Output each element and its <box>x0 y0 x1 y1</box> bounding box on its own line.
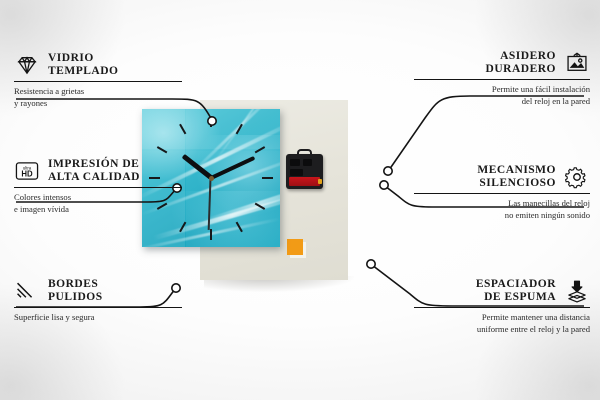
feature-vidrio-templado: VIDRIO TEMPLADO Resistencia a grietas y … <box>14 52 182 109</box>
svg-text:HD: HD <box>21 170 33 179</box>
feature-header: BORDES PULIDOS <box>14 278 182 304</box>
feature-description: Superficie lisa y segura <box>14 312 182 324</box>
feature-title: ASIDERO DURADERO <box>486 50 556 76</box>
feature-description: Permite una fácil instalación del reloj … <box>414 84 590 107</box>
picture-hanger-icon <box>564 51 590 75</box>
feature-espaciador-de-espuma: ESPACIADOR DE ESPUMA Permite mantener un… <box>414 278 590 335</box>
feature-title: BORDES PULIDOS <box>48 278 103 304</box>
feature-description: Permite mantener una distancia uniforme … <box>414 312 590 335</box>
feature-header: VIDRIO TEMPLADO <box>14 52 182 78</box>
feature-title: ESPACIADOR DE ESPUMA <box>476 278 556 304</box>
feature-description: Colores intensos e imagen vívida <box>14 192 182 215</box>
feature-description: Las manecillas del reloj no emiten ningú… <box>414 198 590 221</box>
feature-rule <box>14 307 182 308</box>
feature-rule <box>414 193 590 194</box>
feature-description: Resistencia a grietas y rayones <box>14 86 182 109</box>
feature-header: ESPACIADOR DE ESPUMA <box>414 278 590 304</box>
feature-bordes-pulidos: BORDES PULIDOS Superficie lisa y segura <box>14 278 182 324</box>
feature-rule <box>14 187 182 188</box>
feature-title: IMPRESIÓN DE ALTA CALIDAD <box>48 158 140 184</box>
feature-title: MECANISMO SILENCIOSO <box>477 164 556 190</box>
foam-spacer-icon <box>564 279 590 303</box>
feature-rule <box>414 307 590 308</box>
ultra-hd-icon: ultra HD <box>14 159 40 183</box>
connector-dot-vidrio <box>208 117 216 125</box>
infographic-canvas: VIDRIO TEMPLADO Resistencia a grietas y … <box>0 0 600 400</box>
feature-title: VIDRIO TEMPLADO <box>48 52 118 78</box>
feature-rule <box>414 79 590 80</box>
connector-dot-espaciador <box>367 260 375 268</box>
diamond-icon <box>14 53 40 77</box>
polished-edges-icon <box>14 279 40 303</box>
feature-mecanismo-silencioso: MECANISMO SILENCIOSO Las manecillas del … <box>414 164 590 221</box>
feature-asidero-duradero: ASIDERO DURADERO Permite una fácil insta… <box>414 50 590 107</box>
feature-header: ASIDERO DURADERO <box>414 50 590 76</box>
feature-impresion-alta-calidad: ultra HD IMPRESIÓN DE ALTA CALIDAD Color… <box>14 158 182 215</box>
connector-dot-mecanismo <box>380 181 388 189</box>
connector-dot-asidero <box>384 167 392 175</box>
feature-rule <box>14 81 182 82</box>
feature-header: ultra HD IMPRESIÓN DE ALTA CALIDAD <box>14 158 182 184</box>
feature-header: MECANISMO SILENCIOSO <box>414 164 590 190</box>
gear-icon <box>564 165 590 189</box>
